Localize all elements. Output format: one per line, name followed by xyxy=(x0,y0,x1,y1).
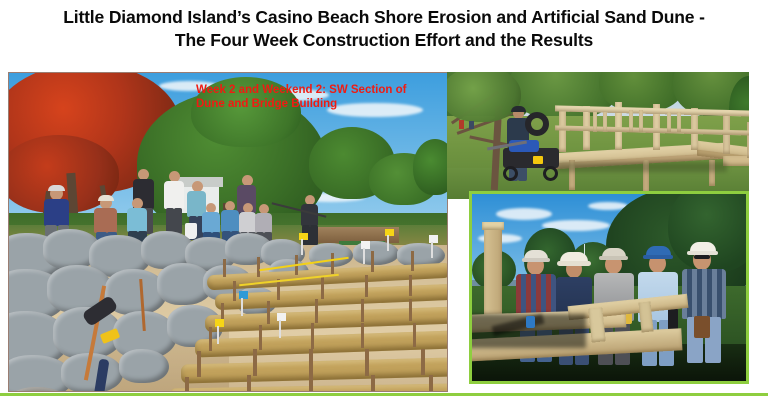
cap-brim xyxy=(643,255,673,259)
construction-crew-group-photo xyxy=(469,191,749,384)
sunglasses-icon xyxy=(694,255,710,259)
yellow-label xyxy=(533,156,543,164)
photo-scene xyxy=(9,73,447,391)
cap-brim xyxy=(599,256,628,260)
page-title: Little Diamond Island’s Casino Beach Sho… xyxy=(0,6,768,52)
hat-brim xyxy=(557,261,591,266)
presentation-slide: Little Diamond Island’s Casino Beach Sho… xyxy=(0,0,768,400)
tire xyxy=(525,112,549,136)
title-line-1: Little Diamond Island’s Casino Beach Sho… xyxy=(0,6,768,29)
tool-pouch xyxy=(694,316,710,338)
new-timber-bridge-photo xyxy=(447,72,749,199)
cap xyxy=(98,195,114,201)
cap xyxy=(48,185,65,191)
blue-bottle xyxy=(526,316,535,328)
bridge-shadow xyxy=(557,162,727,172)
dune-construction-volunteers-photo xyxy=(8,72,448,392)
cap xyxy=(511,106,526,112)
distant-figure xyxy=(469,121,474,129)
flag-wire xyxy=(301,239,303,255)
background-tree xyxy=(413,139,448,195)
cap-brim xyxy=(522,258,550,262)
distant-figure xyxy=(459,120,464,129)
caption-line-2: Dune and Bridge Building xyxy=(196,97,446,111)
photo-caption-overlay: Week 2 and Weekend 2: SW Section of Dune… xyxy=(196,83,446,111)
cart-wheel xyxy=(503,166,518,181)
photo-scene xyxy=(447,72,749,199)
cart-wheel xyxy=(543,166,558,181)
photo-scene xyxy=(472,194,746,381)
post-cap xyxy=(482,222,504,230)
title-line-2: The Four Week Construction Effort and th… xyxy=(0,29,768,52)
foreground-tree-canopy xyxy=(447,72,521,122)
caption-line-1: Week 2 and Weekend 2: SW Section of xyxy=(196,83,446,97)
bottom-accent-rule xyxy=(0,393,768,396)
